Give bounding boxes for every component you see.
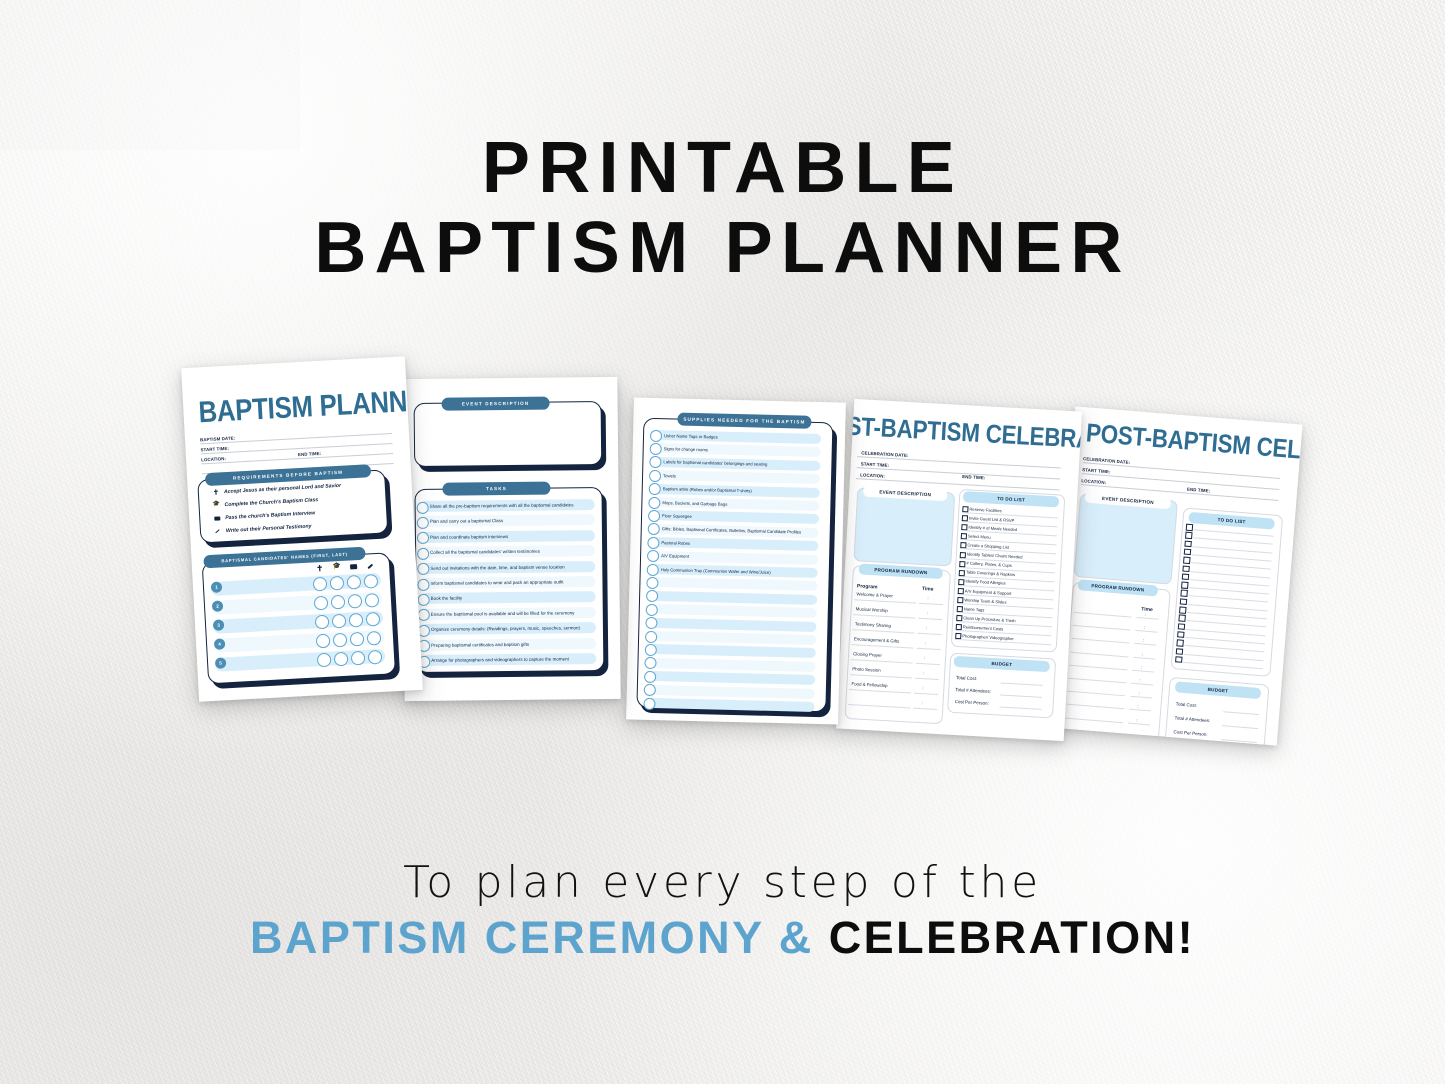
supply-checkbox[interactable] (643, 697, 655, 709)
background-grain (0, 0, 300, 150)
supply-label: Towels (663, 473, 676, 478)
tagline-line-2: BAPTISM CEREMONY & CELEBRATION! (0, 912, 1445, 964)
supply-label: Pastoral Robes (661, 540, 690, 546)
pencil-icon (366, 561, 375, 570)
supply-label: Signs for change rooms (664, 446, 708, 452)
screen-icon (213, 514, 221, 522)
field-label-end-time: END TIME: (962, 474, 985, 480)
screen-icon (349, 562, 358, 571)
todo-checkbox[interactable] (1184, 548, 1191, 555)
todo-checkbox[interactable] (1178, 623, 1185, 630)
page-title: POST-BAPTISM CELEBRATION (836, 413, 1082, 455)
supply-label: A/V Equipment (661, 553, 689, 559)
rundown-col-time: Time (922, 586, 934, 593)
page-post-baptism-blank[interactable]: POST-BAPTISM CELEBRATION CELEBRATION DAT… (1049, 406, 1302, 745)
task-checkbox[interactable] (417, 578, 429, 590)
cross-icon: ✝ (212, 488, 220, 496)
tagline-ceremony: BAPTISM CEREMONY & (250, 912, 814, 963)
task-label: Book the facility (431, 596, 463, 601)
todo-checkbox[interactable] (1184, 540, 1191, 547)
supply-checkbox[interactable] (647, 563, 659, 575)
todo-checkbox[interactable] (1182, 565, 1189, 572)
todo-checkbox[interactable] (1180, 590, 1187, 597)
cross-icon: ✝ (315, 564, 324, 573)
todo-checkbox[interactable] (1176, 648, 1183, 655)
supply-checkbox[interactable] (648, 496, 660, 508)
page-event-tasks[interactable]: EVENT DESCRIPTION TASKS Share all the pr… (401, 377, 620, 701)
field-rule-2 (201, 443, 393, 454)
supply-checkbox[interactable] (648, 510, 660, 522)
event-description-heading: EVENT DESCRIPTION (442, 397, 550, 411)
supply-checkbox[interactable] (647, 537, 659, 549)
supply-checkbox[interactable] (649, 470, 661, 482)
task-checkbox[interactable] (417, 501, 429, 513)
task-label: Preparing baptismal certificates and bap… (431, 641, 529, 647)
supply-checkbox[interactable] (650, 443, 662, 455)
rundown-time-colon: : (921, 700, 923, 705)
task-checkbox[interactable] (418, 594, 430, 606)
todo-checkbox[interactable] (1178, 615, 1185, 622)
rundown-col-program: Program (857, 583, 878, 590)
headline-line-2: BAPTISM PLANNER (0, 212, 1445, 284)
graduation-cap-icon: 🎓 (332, 563, 341, 572)
graduation-cap-icon: 🎓 (212, 501, 220, 509)
rundown-time-colon: : (926, 625, 928, 630)
headline-line-1: PRINTABLE (0, 132, 1445, 204)
task-label: Plan and coordinate baptism interviews (430, 534, 508, 540)
supply-checkbox[interactable] (646, 577, 658, 589)
tagline-line-1: To plan every step of the (0, 857, 1445, 908)
supply-checkbox[interactable] (644, 670, 656, 682)
todo-checkbox[interactable] (1183, 557, 1190, 564)
supply-checkbox[interactable] (645, 644, 657, 656)
tagline-celebration: CELEBRATION! (829, 912, 1195, 963)
todo-checkbox[interactable] (1186, 524, 1193, 531)
page-supplies[interactable]: SUPPLIES NEEDED FOR THE BAPTISM Usher Na… (626, 397, 846, 724)
page-baptism-planner[interactable]: BAPTISM PLANNER BAPTISM DATE: START TIME… (181, 356, 423, 702)
todo-checkbox[interactable] (1182, 573, 1189, 580)
todo-checkbox[interactable] (1181, 582, 1188, 589)
task-label: Plan and carry out a baptismal Class (430, 518, 503, 524)
rundown-time-colon: : (923, 670, 925, 675)
todo-checkbox[interactable] (1177, 631, 1184, 638)
page-post-baptism-filled[interactable]: POST-BAPTISM CELEBRATION CELEBRATION DAT… (836, 399, 1082, 741)
event-description-card[interactable] (414, 401, 603, 467)
todo-checkbox[interactable] (1176, 639, 1183, 646)
page-title: BAPTISM PLANNER (198, 386, 423, 427)
supply-checkbox[interactable] (650, 429, 662, 441)
todo-checkbox[interactable] (1179, 606, 1186, 613)
supply-checkbox[interactable] (645, 630, 657, 642)
pencil-icon (214, 527, 222, 535)
supply-label: Floor Squeegee (662, 513, 692, 519)
task-checkbox[interactable] (417, 517, 429, 529)
field-rule-2 (857, 467, 1061, 479)
tasks-heading: TASKS (442, 482, 550, 496)
todo-label: Name Tags (964, 606, 985, 612)
rundown-time-colon: : (927, 595, 929, 600)
todo-checkbox[interactable] (1175, 656, 1182, 663)
todo-checkbox[interactable] (1180, 598, 1187, 605)
rundown-col-time: Time (1141, 606, 1153, 613)
todo-checkbox[interactable] (1185, 532, 1192, 539)
task-checkbox[interactable] (417, 548, 429, 560)
supply-checkbox[interactable] (646, 603, 658, 615)
